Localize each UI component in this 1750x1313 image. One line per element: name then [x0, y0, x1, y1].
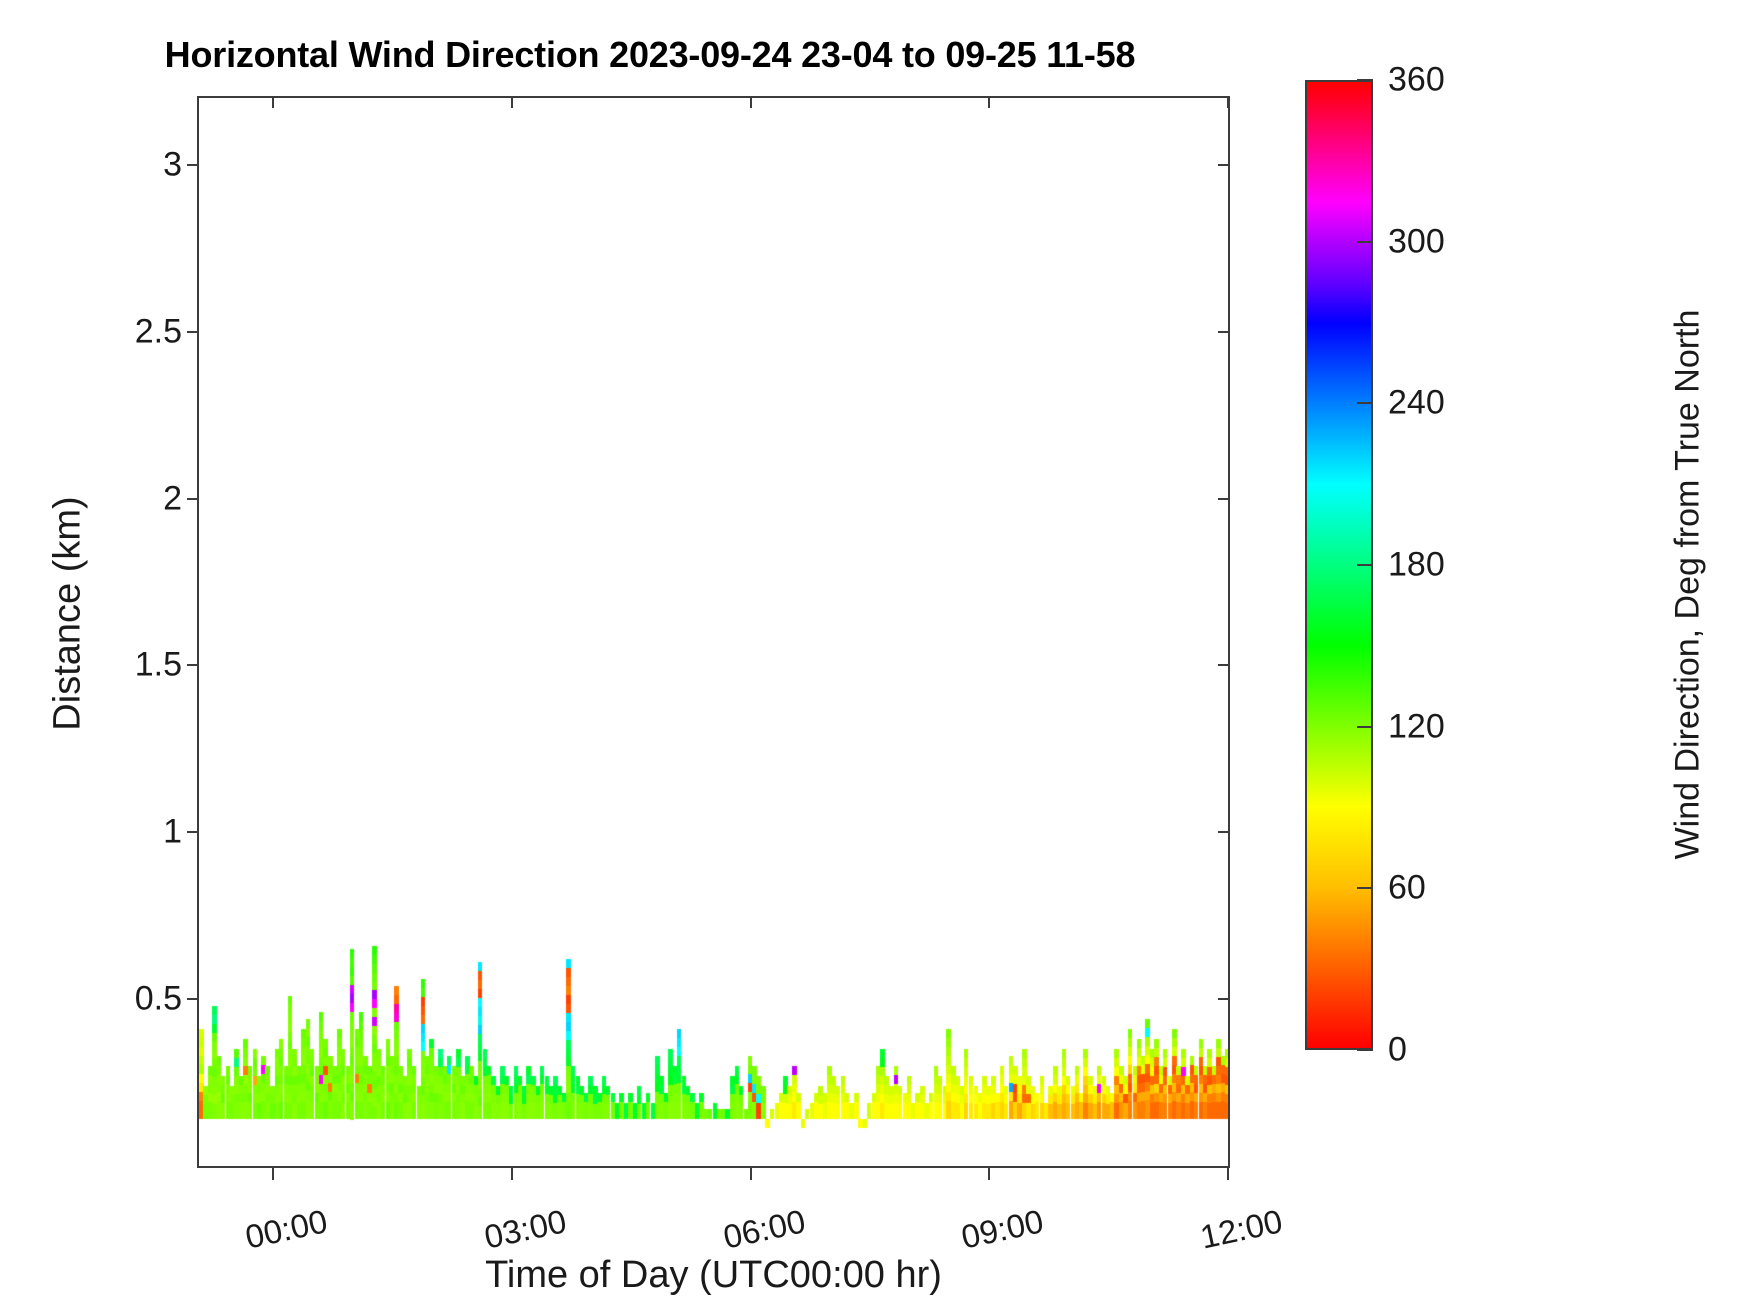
y-tick-mark	[187, 831, 199, 833]
colorbar-tick-label: 240	[1388, 384, 1445, 423]
heatmap-canvas	[199, 98, 1228, 1166]
colorbar-tick-label: 300	[1388, 222, 1445, 261]
colorbar-tick-label: 60	[1388, 869, 1426, 908]
y-tick-mark-right	[1218, 331, 1230, 333]
x-tick-mark	[988, 1168, 990, 1180]
chart-figure: Horizontal Wind Direction 2023-09-24 23-…	[0, 0, 1750, 1313]
y-tick-mark-right	[1218, 664, 1230, 666]
colorbar-tick-label: 360	[1388, 61, 1445, 100]
x-tick-mark	[272, 1168, 274, 1180]
y-tick-mark-right	[1218, 498, 1230, 500]
y-tick-label: 1	[163, 813, 182, 852]
x-tick-mark-top	[511, 96, 513, 108]
y-axis-title: Distance (km)	[47, 294, 90, 934]
y-tick-label: 1.5	[135, 646, 182, 685]
y-tick-mark-right	[1218, 998, 1230, 1000]
y-tick-mark-right	[1218, 831, 1230, 833]
x-axis-title: Time of Day (UTC00:00 hr)	[197, 1254, 1230, 1297]
x-tick-mark-top	[750, 96, 752, 108]
y-tick-mark	[187, 664, 199, 666]
x-tick-label: 03:00	[481, 1202, 570, 1256]
x-tick-mark-top	[272, 96, 274, 108]
x-tick-label: 06:00	[720, 1202, 809, 1256]
x-tick-label: 12:00	[1197, 1202, 1286, 1256]
y-tick-mark	[187, 331, 199, 333]
colorbar-tick-mark	[1357, 241, 1373, 243]
y-tick-mark	[187, 164, 199, 166]
colorbar-tick-label: 0	[1388, 1031, 1407, 1070]
y-tick-label: 0.5	[135, 980, 182, 1019]
plot-axes	[197, 96, 1230, 1168]
y-tick-mark	[187, 498, 199, 500]
colorbar-tick-mark	[1357, 402, 1373, 404]
x-tick-mark	[750, 1168, 752, 1180]
y-tick-label: 2.5	[135, 312, 182, 351]
colorbar-tick-mark	[1357, 564, 1373, 566]
colorbar-title: Wind Direction, Deg from True North	[1669, 85, 1708, 1085]
colorbar-tick-mark	[1357, 726, 1373, 728]
y-tick-label: 2	[163, 479, 182, 518]
colorbar-tick-label: 120	[1388, 707, 1445, 746]
y-tick-mark-right	[1218, 164, 1230, 166]
x-tick-mark-top	[1227, 96, 1229, 108]
colorbar-tick-label: 180	[1388, 546, 1445, 585]
y-tick-label: 3	[163, 145, 182, 184]
x-tick-label: 00:00	[242, 1202, 331, 1256]
page-title: Horizontal Wind Direction 2023-09-24 23-…	[0, 34, 1300, 76]
colorbar-tick-mark	[1357, 1049, 1373, 1051]
x-tick-mark	[1227, 1168, 1229, 1180]
colorbar-tick-mark	[1357, 887, 1373, 889]
colorbar-tick-mark	[1357, 79, 1373, 81]
x-tick-label: 09:00	[958, 1202, 1047, 1256]
x-tick-mark-top	[988, 96, 990, 108]
x-tick-mark	[511, 1168, 513, 1180]
y-tick-mark	[187, 998, 199, 1000]
